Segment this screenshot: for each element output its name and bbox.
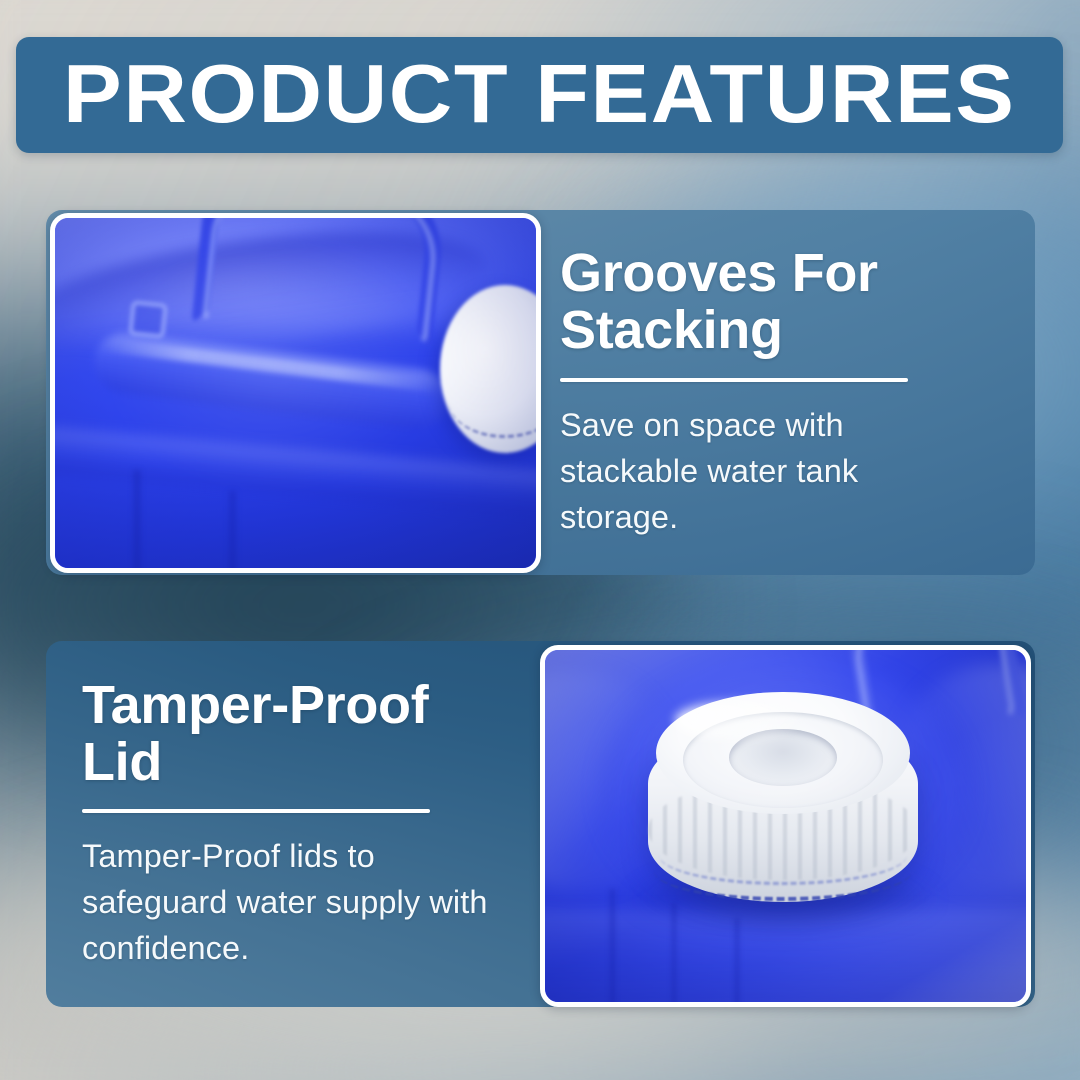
photo-vignette — [55, 218, 536, 568]
feature-description: Save on space with stackable water tank … — [560, 402, 972, 540]
feature-card: Tamper-Proof Lid Tamper-Proof lids to sa… — [46, 641, 1035, 1007]
page-title: PRODUCT FEATURES — [63, 52, 1016, 135]
feature-text-tamper-proof: Tamper-Proof Lid Tamper-Proof lids to sa… — [82, 641, 502, 1007]
feature-divider — [82, 809, 430, 813]
content-stage: PRODUCT FEATURES Groo — [0, 0, 1080, 1080]
feature-image-tamper-proof-lid — [540, 645, 1031, 1007]
feature-image-lid-inner — [545, 650, 1026, 1002]
feature-divider — [560, 378, 908, 382]
feature-card: Grooves For Stacking Save on space with … — [46, 210, 1035, 575]
feature-text-grooves: Grooves For Stacking Save on space with … — [560, 210, 980, 575]
feature-heading: Tamper-Proof Lid — [82, 677, 502, 791]
photo-vignette — [545, 650, 1026, 1002]
feature-image-grooves-inner — [55, 218, 536, 568]
header-banner: PRODUCT FEATURES — [16, 37, 1063, 153]
feature-heading: Grooves For Stacking — [560, 245, 972, 359]
feature-image-grooves — [50, 213, 541, 573]
feature-description: Tamper-Proof lids to safeguard water sup… — [82, 833, 502, 971]
